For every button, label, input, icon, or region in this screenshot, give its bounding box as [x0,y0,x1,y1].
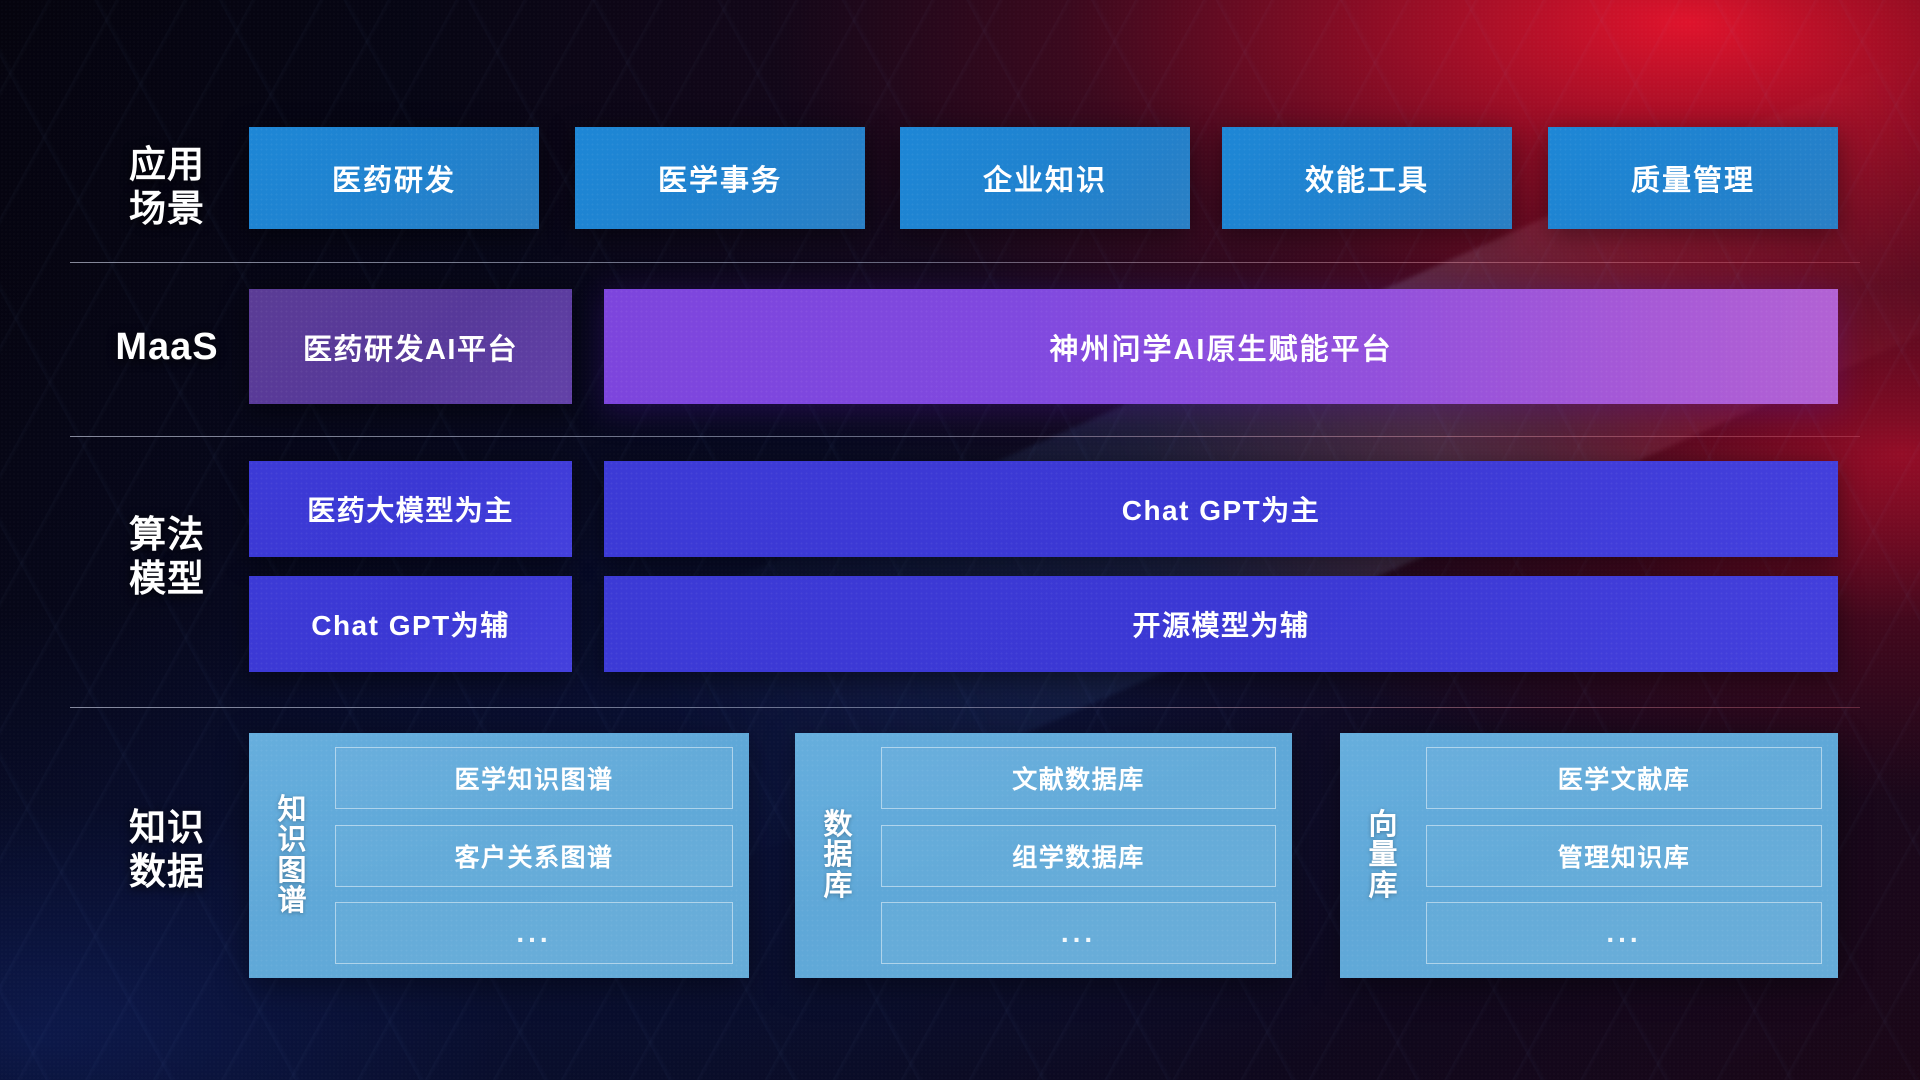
app-card-2-label: 企业知识 [983,157,1107,199]
row-knowledge-data: 知识数据 知 识 图 谱 医学知识图谱 客户关系图谱 [0,733,1920,978]
maas-card-medical-ai-platform[interactable]: 医药研发AI平台 [249,289,572,404]
knowledge-panel-0-item-0[interactable]: 医学知识图谱 [335,747,733,809]
algo-card-left-1[interactable]: Chat GPT为辅 [249,576,572,672]
knowledge-panel-2-item-2-label: ... [1606,917,1641,949]
row-label-knowledge-line2: 数据 [129,851,205,892]
row-label-application-line1: 应用 [129,144,205,185]
knowledge-panel-1-item-1-label: 组学数据库 [1012,838,1145,874]
knowledge-panel-2-item-0-label: 医学文献库 [1558,760,1691,796]
app-card-0-label: 医药研发 [332,157,456,199]
maas-card-shenzhou-platform[interactable]: 神州问学AI原生赋能平台 [604,289,1838,404]
app-card-0[interactable]: 医药研发 [249,127,539,229]
knowledge-panel-1-items: 文献数据库 组学数据库 ... [869,747,1276,964]
knowledge-panel-1-vlabel-char-2: 库 [823,871,852,901]
row-label-application-line2: 场景 [129,188,205,229]
knowledge-panel-0-item-0-label: 医学知识图谱 [454,760,613,796]
app-card-4-label: 质量管理 [1631,157,1755,199]
row-label-application: 应用场景 [92,143,242,230]
row-label-maas: MaaS [92,325,242,370]
knowledge-panel-1-vlabel-char-0: 数 [823,810,852,840]
app-card-1[interactable]: 医学事务 [575,127,865,229]
knowledge-panel-1-item-2-label: ... [1061,917,1096,949]
maas-card-shenzhou-platform-label: 神州问学AI原生赋能平台 [1049,326,1392,368]
knowledge-panel-0-vlabel-char-2: 图 [277,856,306,886]
row-label-algorithm-line2: 模型 [129,558,205,599]
algo-card-left-0[interactable]: 医药大模型为主 [249,461,572,557]
row-label-knowledge: 知识数据 [92,806,242,893]
algo-card-left-0-label: 医药大模型为主 [307,489,514,529]
app-card-3[interactable]: 效能工具 [1222,127,1512,229]
knowledge-panel-1-item-0-label: 文献数据库 [1012,760,1145,796]
knowledge-panel-0-vlabel-char-0: 知 [277,795,306,825]
app-card-3-label: 效能工具 [1305,157,1429,199]
knowledge-panel-2[interactable]: 向 量 库 医学文献库 管理知识库 ... [1340,733,1838,978]
algo-card-right-1-label: 开源模型为辅 [1132,604,1309,644]
row-label-algorithm-line1: 算法 [129,514,205,555]
row-maas: MaaS 医药研发AI平台 神州问学AI原生赋能平台 [0,289,1920,404]
knowledge-panel-1-vertical-label: 数 据 库 [807,747,869,964]
knowledge-panel-1-item-0[interactable]: 文献数据库 [881,747,1276,809]
knowledge-panel-1[interactable]: 数 据 库 文献数据库 组学数据库 ... [795,733,1292,978]
algo-card-right-0-label: Chat GPT为主 [1122,489,1321,529]
algo-card-right-1[interactable]: 开源模型为辅 [604,576,1838,672]
row-label-algorithm: 算法模型 [92,513,242,600]
row-algorithm-models: 算法模型 医药大模型为主 Chat GPT为主 Chat GPT为辅 开源模型为… [0,461,1920,676]
divider-2 [70,436,1860,437]
knowledge-panel-2-vlabel-char-2: 库 [1368,871,1397,901]
divider-3 [70,707,1860,708]
knowledge-panel-0-item-1-label: 客户关系图谱 [454,838,613,874]
knowledge-panel-0-item-2[interactable]: ... [335,902,733,964]
knowledge-panel-0-item-2-label: ... [516,917,551,949]
knowledge-panel-2-vlabel-char-0: 向 [1368,810,1397,840]
algo-card-left-1-label: Chat GPT为辅 [311,604,510,644]
knowledge-panel-2-vertical-label: 向 量 库 [1352,747,1414,964]
knowledge-panel-0-item-1[interactable]: 客户关系图谱 [335,825,733,887]
knowledge-panel-2-items: 医学文献库 管理知识库 ... [1414,747,1822,964]
knowledge-panel-2-item-1[interactable]: 管理知识库 [1426,825,1822,887]
knowledge-panel-1-item-1[interactable]: 组学数据库 [881,825,1276,887]
knowledge-panel-1-item-2[interactable]: ... [881,902,1276,964]
app-card-1-label: 医学事务 [658,157,782,199]
knowledge-panel-0-items: 医学知识图谱 客户关系图谱 ... [323,747,733,964]
knowledge-panel-2-item-1-label: 管理知识库 [1558,838,1691,874]
diagram-stage: 应用场景 医药研发 医学事务 企业知识 效能工具 质量管理 MaaS 医药研发A… [0,0,1920,1080]
knowledge-panel-0-vlabel-char-3: 谱 [277,886,306,916]
divider-1 [70,262,1860,263]
knowledge-panel-0-vlabel-char-1: 识 [277,825,306,855]
knowledge-panel-2-item-0[interactable]: 医学文献库 [1426,747,1822,809]
algo-card-right-0[interactable]: Chat GPT为主 [604,461,1838,557]
knowledge-panel-2-vlabel-char-1: 量 [1368,840,1397,870]
knowledge-panel-0[interactable]: 知 识 图 谱 医学知识图谱 客户关系图谱 ... [249,733,749,978]
knowledge-panel-0-vertical-label: 知 识 图 谱 [261,747,323,964]
row-application-scenarios: 应用场景 医药研发 医学事务 企业知识 效能工具 质量管理 [0,127,1920,229]
knowledge-panel-2-item-2[interactable]: ... [1426,902,1822,964]
row-label-knowledge-line1: 知识 [129,807,205,848]
maas-card-medical-ai-platform-label: 医药研发AI平台 [303,326,518,368]
diagram-content: 应用场景 医药研发 医学事务 企业知识 效能工具 质量管理 MaaS 医药研发A… [0,0,1920,1080]
knowledge-panel-1-vlabel-char-1: 据 [823,840,852,870]
app-card-4[interactable]: 质量管理 [1548,127,1838,229]
app-card-2[interactable]: 企业知识 [900,127,1190,229]
